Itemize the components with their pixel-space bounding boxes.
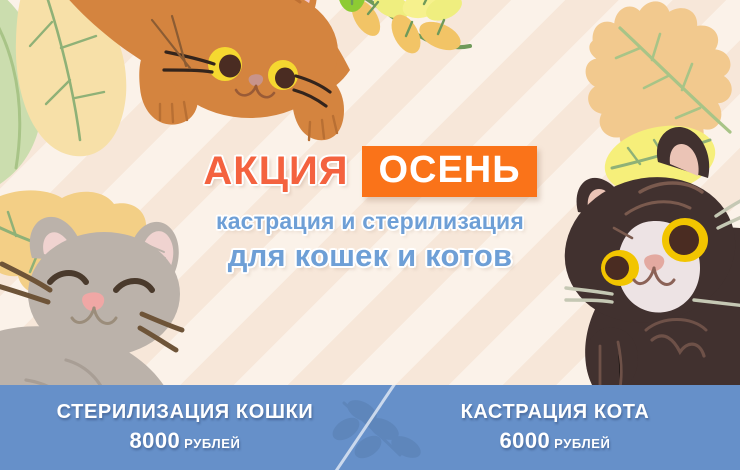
price-line-female: 8000РУБЛЕЙ [130, 428, 241, 454]
price-title-male: КАСТРАЦИЯ КОТА [461, 401, 650, 424]
promo-poster: АКЦИЯ ОСЕНЬ кастрация и стерилизация для… [0, 0, 740, 470]
price-currency-male: РУБЛЕЙ [554, 436, 610, 451]
price-column-male: КАСТРАЦИЯ КОТА 6000РУБЛЕЙ [370, 385, 740, 470]
price-column-female: СТЕРИЛИЗАЦИЯ КОШКИ 8000РУБЛЕЙ [0, 385, 370, 470]
price-line-male: 6000РУБЛЕЙ [500, 428, 611, 454]
yellow-branch-icon [338, 0, 470, 58]
price-amount-male: 6000 [500, 428, 551, 453]
price-banner: СТЕРИЛИЗАЦИЯ КОШКИ 8000РУБЛЕЙ КАСТРАЦИЯ … [0, 385, 740, 470]
price-title-female: СТЕРИЛИЗАЦИЯ КОШКИ [57, 401, 314, 424]
price-currency-female: РУБЛЕЙ [184, 436, 240, 451]
price-amount-female: 8000 [130, 428, 181, 453]
